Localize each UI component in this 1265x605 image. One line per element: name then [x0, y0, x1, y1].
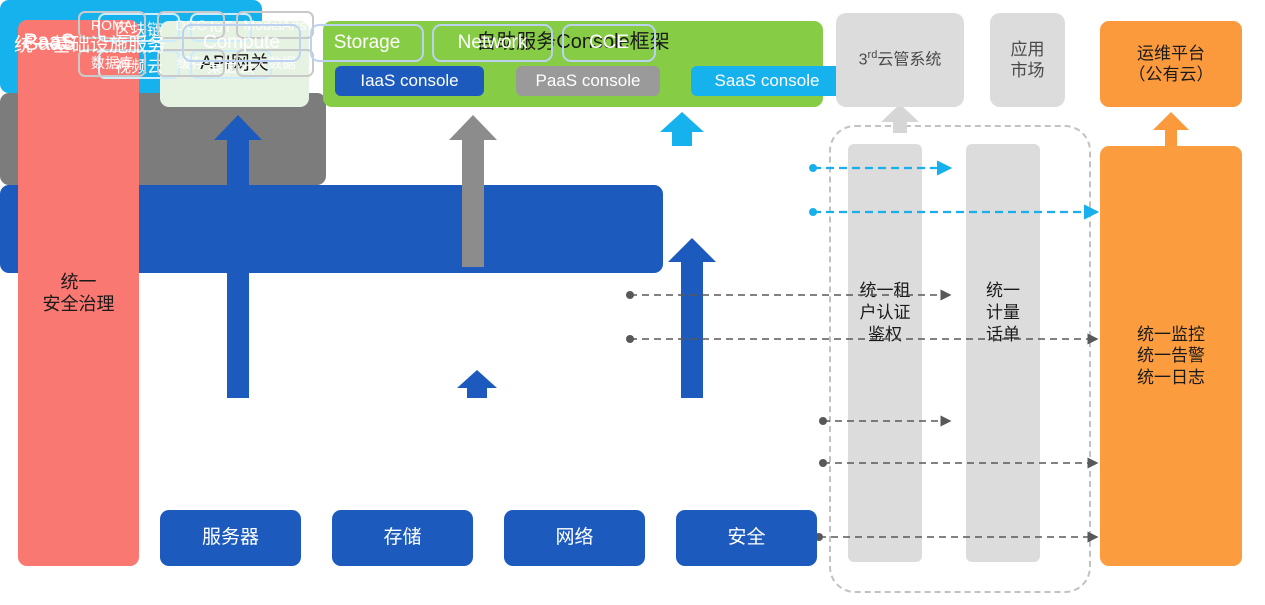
resource-box-security[interactable]: 安全	[676, 510, 817, 566]
infra-service-network-label: Network	[458, 32, 528, 54]
paas-console-chip[interactable]: PaaS console	[516, 66, 660, 96]
arrow-saas-to-saas-console	[660, 112, 704, 146]
infra-service-cce-label: CCE	[589, 32, 629, 54]
ops-panel-line-1: 统一监控	[1137, 324, 1205, 345]
iaas-console-chip[interactable]: IaaS console	[335, 66, 484, 96]
saas-console-label: SaaS console	[715, 70, 820, 91]
security-line-2: 安全治理	[43, 293, 115, 316]
ops-top-line-2: （公有云）	[1129, 64, 1214, 85]
paas-console-label: PaaS console	[536, 70, 641, 91]
arrow-infra-to-paas	[457, 370, 497, 398]
billing-line-2: 计量	[966, 302, 1040, 324]
ops-monitoring-panel: 统一监控 统一告警 统一日志	[1100, 146, 1242, 566]
saas-console-chip[interactable]: SaaS console	[691, 66, 843, 96]
shared-service-billing-label: 统一 计量 话单	[966, 280, 1040, 346]
auth-line-3: 鉴权	[848, 324, 922, 346]
infra-service-network[interactable]: Network	[432, 24, 553, 62]
third-cloud-label: 3rd云管系统	[859, 49, 942, 70]
resource-storage-label: 存储	[383, 526, 421, 550]
infra-service-storage[interactable]: Storage	[310, 24, 424, 62]
ops-top-line-1: 运维平台	[1129, 43, 1214, 64]
billing-line-3: 话单	[966, 324, 1040, 346]
billing-line-1: 统一	[966, 280, 1040, 302]
resource-box-network[interactable]: 网络	[504, 510, 645, 566]
infra-service-compute-label: Compute	[203, 32, 280, 54]
architecture-diagram: 统一租 户认证 鉴权 统一 计量 话单	[0, 0, 1265, 605]
arrow-ops-panel-to-ops-top	[1153, 112, 1189, 146]
security-line-1: 统一	[43, 271, 115, 294]
third-cloud-sup: rd	[868, 49, 878, 61]
auth-line-1: 统一租	[848, 280, 922, 302]
app-market-line-2: 市场	[1011, 60, 1045, 81]
shared-service-column-billing	[966, 144, 1040, 562]
iaas-console-label: IaaS console	[360, 70, 458, 91]
resource-network-label: 网络	[555, 526, 593, 550]
auth-line-2: 户认证	[848, 302, 922, 324]
ops-panel-line-2: 统一告警	[1137, 345, 1205, 366]
third-cloud-prefix: 3	[859, 52, 868, 69]
app-market-line-1: 应用	[1011, 39, 1045, 60]
ops-platform-public-cloud-box: 运维平台 （公有云）	[1100, 21, 1242, 107]
third-cloud-main: 云管系统	[877, 52, 941, 69]
resource-security-label: 安全	[727, 526, 765, 550]
ops-panel-line-3: 统一日志	[1137, 367, 1205, 388]
security-governance-panel: 统一 安全治理	[18, 20, 139, 566]
resource-box-storage[interactable]: 存储	[332, 510, 473, 566]
arrow-infra-to-saas	[668, 238, 716, 398]
shared-service-auth-label: 统一租 户认证 鉴权	[848, 280, 922, 346]
app-market-box: 应用 市场	[990, 13, 1065, 107]
third-party-cloud-mgmt-box: 3rd云管系统	[836, 13, 964, 107]
resource-server-label: 服务器	[202, 526, 259, 550]
infra-service-cce[interactable]: CCE	[562, 24, 656, 62]
infra-service-compute[interactable]: Compute	[182, 24, 301, 62]
resource-box-server[interactable]: 服务器	[160, 510, 301, 566]
infra-service-storage-label: Storage	[334, 32, 401, 54]
shared-service-column-auth	[848, 144, 922, 562]
infrastructure-label: 统一基础设施服务	[14, 30, 166, 57]
